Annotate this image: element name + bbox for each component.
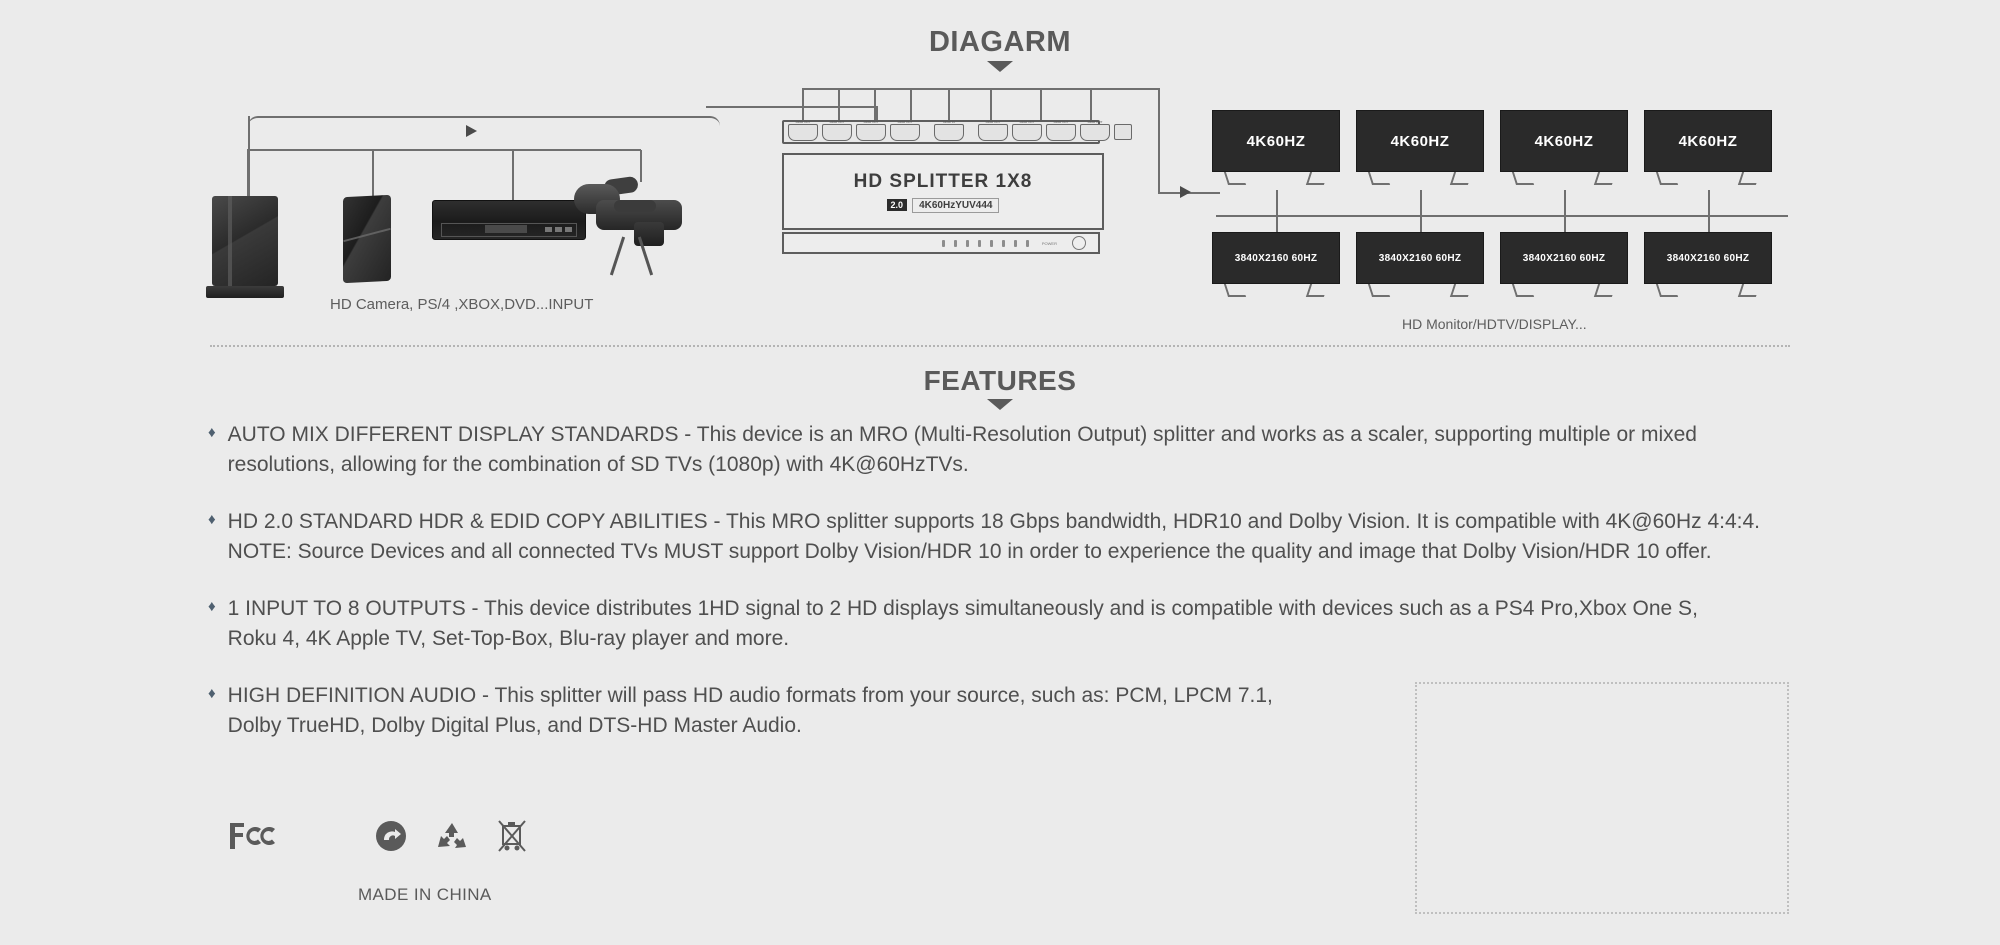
feature-text: 1 INPUT TO 8 OUTPUTS - This device distr…	[228, 594, 1798, 654]
tv-stand	[1212, 172, 1340, 184]
led-2	[954, 240, 957, 247]
output-flow-arrow-icon	[1180, 186, 1191, 198]
features-title: FEATURES	[0, 365, 2000, 397]
hd-splitter-device: HDMI OUT HDMI OUT HDMI OUT HDMI OUT HDMI…	[782, 120, 1100, 263]
display-top-1-label: 4K60HZ	[1212, 110, 1340, 172]
led-8	[1026, 240, 1029, 247]
section-divider	[210, 345, 1790, 347]
display-bottom-4-label: 3840X2160 60HZ	[1644, 232, 1772, 284]
tv-stand	[1500, 172, 1628, 184]
led-7	[1014, 240, 1017, 247]
output-riser-4	[910, 88, 912, 122]
display-bottom-1: 3840X2160 60HZ	[1212, 232, 1340, 296]
hdmi-out-port-8[interactable]: HDMI OUT	[1080, 124, 1110, 141]
led-1	[942, 240, 945, 247]
led-5	[990, 240, 993, 247]
diagram-section-heading: DIAGARM	[0, 26, 2000, 72]
bullet-icon: ♦	[208, 681, 216, 706]
feature-line: 1 INPUT TO 8 OUTPUTS - This device distr…	[228, 594, 1798, 624]
hdmi-out-port-7[interactable]: HDMI OUT	[1046, 124, 1076, 141]
device-brand-label: HD SPLITTER 1X8	[854, 171, 1033, 193]
feature-item: ♦ HD 2.0 STANDARD HDR & EDID COPY ABILIT…	[208, 507, 1798, 567]
tv-stand	[1212, 284, 1340, 296]
input-to-splitter-top	[706, 106, 878, 108]
caret-down-icon	[987, 399, 1013, 410]
output-riser-2	[838, 88, 840, 122]
fcc-icon	[228, 820, 276, 857]
caret-down-icon	[987, 61, 1013, 72]
bullet-icon: ♦	[208, 507, 216, 532]
hdmi-in-port[interactable]: HDMI IN	[934, 124, 964, 141]
product-spec-sheet: DIAGARM	[0, 0, 2000, 945]
bullet-icon: ♦	[208, 594, 216, 619]
display-top-2-label: 4K60HZ	[1356, 110, 1484, 172]
feature-item: ♦ 1 INPUT TO 8 OUTPUTS - This device dis…	[208, 594, 1798, 654]
hdmi-out-label-1: HDMI OUT	[790, 120, 816, 125]
tv-stand	[1500, 284, 1628, 296]
output-riser-3	[874, 88, 876, 122]
hdmi-out-label-7: HDMI OUT	[1048, 120, 1074, 125]
features-section-heading: FEATURES	[0, 365, 2000, 410]
hdmi-out-port-4[interactable]: HDMI OUT	[890, 124, 920, 141]
ce-icon	[302, 820, 348, 857]
feature-text: HD 2.0 STANDARD HDR & EDID COPY ABILITIE…	[228, 507, 1798, 567]
format-badge: 4K60HzYUV444	[912, 198, 999, 213]
output-riser-5	[948, 88, 950, 122]
display-bottom-4: 3840X2160 60HZ	[1644, 232, 1772, 296]
led-indicator-strip: POWER	[782, 232, 1100, 254]
bullet-icon: ♦	[208, 420, 216, 445]
feature-line: resolutions, allowing for the combinatio…	[228, 450, 1798, 480]
source-device-xbox	[343, 195, 391, 284]
version-badge: 2.0	[887, 199, 908, 211]
display-bottom-2-label: 3840X2160 60HZ	[1356, 232, 1484, 284]
diagram-title: DIAGARM	[0, 26, 2000, 59]
display-bus	[1216, 215, 1788, 217]
source-drop-xbox	[372, 150, 374, 198]
power-led-label: POWER	[1042, 241, 1057, 246]
device-faceplate: HD SPLITTER 1X8 2.0 4K60HzYUV444	[782, 153, 1104, 230]
output-riser-1	[802, 88, 804, 122]
port-strip: HDMI OUT HDMI OUT HDMI OUT HDMI OUT HDMI…	[782, 120, 1100, 144]
device-badges: 2.0 4K60HzYUV444	[887, 198, 1000, 213]
placeholder-box	[1415, 682, 1789, 914]
hdmi-out-label-2: HDMI OUT	[824, 120, 850, 125]
source-device-hd-camera	[574, 178, 704, 250]
display-top-2: 4K60HZ	[1356, 110, 1484, 184]
certification-icons	[228, 818, 528, 859]
hdmi-out-port-2[interactable]: HDMI OUT	[822, 124, 852, 141]
display-bottom-1-label: 3840X2160 60HZ	[1212, 232, 1340, 284]
feature-line: Roku 4, 4K Apple TV, Set-Top-Box, Blu-ra…	[228, 624, 1798, 654]
hdmi-out-port-6[interactable]: HDMI OUT	[1012, 124, 1042, 141]
hdmi-out-port-5[interactable]: HDMI OUT	[978, 124, 1008, 141]
feature-line: HD 2.0 STANDARD HDR & EDID COPY ABILITIE…	[228, 507, 1798, 537]
source-drop-dvd	[512, 150, 514, 202]
display-top-4: 4K60HZ	[1644, 110, 1772, 184]
led-3	[966, 240, 969, 247]
hdmi-out-label-5: HDMI OUT	[980, 120, 1006, 125]
tv-stand	[1356, 284, 1484, 296]
green-dot-icon	[374, 819, 408, 858]
feature-item: ♦ AUTO MIX DIFFERENT DISPLAY STANDARDS -…	[208, 420, 1798, 480]
feature-line: AUTO MIX DIFFERENT DISPLAY STANDARDS - T…	[228, 420, 1798, 450]
hdmi-out-port-1[interactable]: HDMI OUT	[788, 124, 818, 141]
hdmi-out-label-6: HDMI OUT	[1014, 120, 1040, 125]
display-top-4-label: 4K60HZ	[1644, 110, 1772, 172]
output-riser-8	[1090, 88, 1092, 122]
output-caption: HD Monitor/HDTV/DISPLAY...	[1402, 316, 1587, 332]
display-bottom-2: 3840X2160 60HZ	[1356, 232, 1484, 296]
output-comb-right	[948, 88, 1160, 90]
input-flow-arrow-icon	[466, 125, 477, 137]
led-6	[1002, 240, 1005, 247]
feature-line: NOTE: Source Devices and all connected T…	[228, 537, 1798, 567]
tv-stand	[1356, 172, 1484, 184]
weee-icon	[496, 818, 528, 859]
hdmi-out-label-8: HDMI OUT	[1082, 120, 1108, 125]
recycle-icon	[434, 820, 470, 857]
hdmi-out-label-3: HDMI OUT	[858, 120, 884, 125]
source-device-ps4	[212, 196, 278, 286]
hdmi-out-port-3[interactable]: HDMI OUT	[856, 124, 886, 141]
hdmi-out-label-4: HDMI OUT	[892, 120, 918, 125]
display-top-3-label: 4K60HZ	[1500, 110, 1628, 172]
led-4	[978, 240, 981, 247]
power-jack[interactable]	[1114, 124, 1132, 140]
display-top-3: 4K60HZ	[1500, 110, 1628, 184]
power-led-icon	[1072, 236, 1086, 250]
display-top-1: 4K60HZ	[1212, 110, 1340, 184]
made-in-label: MADE IN CHINA	[358, 885, 492, 905]
output-riser-7	[1040, 88, 1042, 122]
source-device-dvd-player	[432, 200, 586, 240]
display-bottom-3: 3840X2160 60HZ	[1500, 232, 1628, 296]
feature-text: AUTO MIX DIFFERENT DISPLAY STANDARDS - T…	[228, 420, 1798, 480]
tv-stand	[1644, 172, 1772, 184]
tv-stand	[1644, 284, 1772, 296]
hdmi-in-label: HDMI IN	[936, 120, 962, 125]
display-bottom-3-label: 3840X2160 60HZ	[1500, 232, 1628, 284]
input-caption: HD Camera, PS/4 ,XBOX,DVD...INPUT	[330, 296, 593, 313]
output-riser-6	[990, 88, 992, 122]
input-bus-horizontal	[247, 149, 641, 151]
output-bus-down	[1158, 88, 1160, 192]
